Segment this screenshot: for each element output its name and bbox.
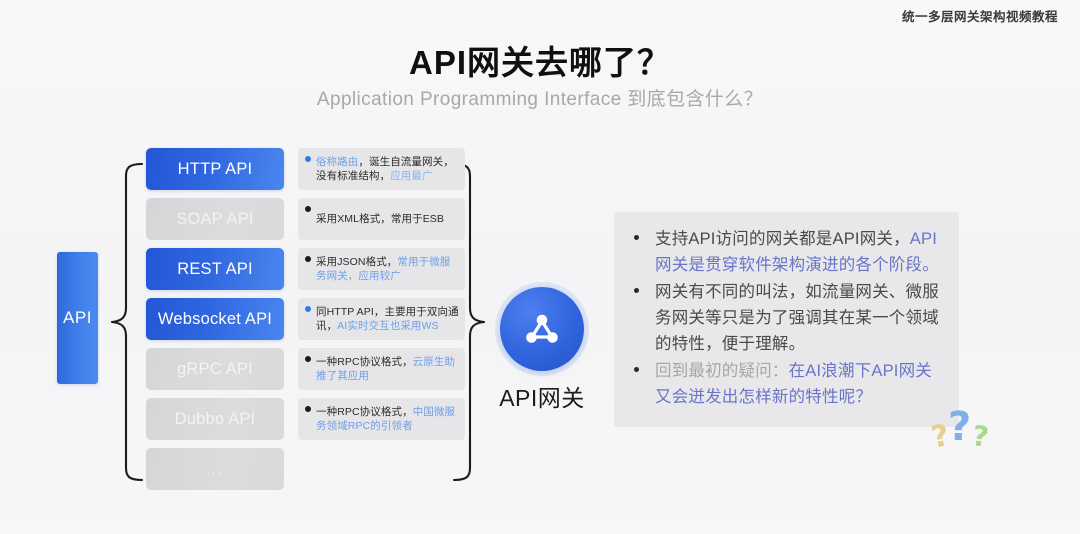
- api-type-tile[interactable]: REST API: [146, 248, 284, 290]
- api-type-label: HTTP API: [178, 160, 253, 179]
- description-segment: 俗称路由: [316, 156, 358, 168]
- left-brace-icon: [100, 160, 144, 484]
- api-type-description-text: 俗称路由，诞生自流量网关，没有标准结构，应用最广: [316, 155, 459, 183]
- description-segment: 应用最广: [390, 170, 432, 182]
- api-root-label: API: [63, 308, 92, 328]
- course-tag: 统一多层网关架构视频教程: [902, 6, 1058, 25]
- api-type-tile[interactable]: HTTP API: [146, 148, 284, 190]
- api-type-list: HTTP API俗称路由，诞生自流量网关，没有标准结构，应用最广SOAP API…: [146, 148, 465, 498]
- note-segment: 支持API访问的网关都是API网关，: [655, 230, 910, 248]
- api-type-row: gRPC API一种RPC协议格式，云原生助推了其应用: [146, 348, 465, 390]
- description-segment: 采用XML格式，常用于ESB: [316, 213, 444, 225]
- api-type-row: SOAP API采用XML格式，常用于ESB: [146, 198, 465, 240]
- api-type-tile[interactable]: gRPC API: [146, 348, 284, 390]
- note-text: 回到最初的疑问：在AI浪潮下API网关又会迸发出怎样新的特性呢？: [655, 358, 947, 410]
- bullet-icon: [634, 367, 639, 372]
- notes-panel: 支持API访问的网关都是API网关，API网关是贯穿软件架构演进的各个阶段。网关…: [614, 212, 959, 427]
- api-type-row: ...: [146, 448, 465, 490]
- api-type-description-text: 一种RPC协议格式，云原生助推了其应用: [316, 355, 459, 383]
- description-segment: 采用JSON格式，: [316, 256, 397, 268]
- description-segment: 一种RPC协议格式，: [316, 406, 413, 418]
- api-type-description-text: 同HTTP API，主要用于双向通讯，AI实时交互也采用WS: [316, 305, 459, 333]
- note-item: 回到最初的疑问：在AI浪潮下API网关又会迸发出怎样新的特性呢？: [628, 358, 947, 410]
- api-gateway-label: API网关: [468, 379, 616, 413]
- api-type-label: Websocket API: [158, 310, 272, 329]
- api-type-tile[interactable]: SOAP API: [146, 198, 284, 240]
- api-type-row: Websocket API同HTTP API，主要用于双向通讯，AI实时交互也采…: [146, 298, 465, 340]
- page-subtitle: Application Programming Interface 到底包含什么…: [0, 84, 1080, 111]
- svg-text:?: ?: [948, 404, 971, 450]
- api-type-row: REST API采用JSON格式，常用于微服务网关，应用较广: [146, 248, 465, 290]
- bullet-icon: [305, 256, 311, 262]
- network-node-icon: [500, 287, 584, 371]
- description-segment: AI实时交互也采用WS: [337, 320, 438, 332]
- api-type-label: Dubbo API: [175, 410, 256, 429]
- bullet-icon: [634, 288, 639, 293]
- api-type-label: REST API: [177, 260, 253, 279]
- api-type-description-text: 一种RPC协议格式，中国微服务领域RPC的引领者: [316, 405, 459, 433]
- api-type-row: HTTP API俗称路由，诞生自流量网关，没有标准结构，应用最广: [146, 148, 465, 190]
- page-title: API网关去哪了？: [0, 36, 1080, 84]
- api-type-description: 一种RPC协议格式，中国微服务领域RPC的引领者: [298, 398, 465, 440]
- api-root-node: API: [57, 252, 98, 384]
- api-type-description: 采用XML格式，常用于ESB: [298, 198, 465, 240]
- api-type-description: 采用JSON格式，常用于微服务网关，应用较广: [298, 248, 465, 290]
- api-type-tile[interactable]: ...: [146, 448, 284, 490]
- bullet-icon: [305, 306, 311, 312]
- note-segment: 网关有不同的叫法，如流量网关、微服务网关等只是为了强调其在某一个领域的特性，便于…: [655, 283, 939, 353]
- bullet-icon: [305, 406, 311, 412]
- note-text: 支持API访问的网关都是API网关，API网关是贯穿软件架构演进的各个阶段。: [655, 226, 947, 278]
- api-type-label: SOAP API: [176, 210, 253, 229]
- api-type-label: ...: [206, 461, 224, 477]
- note-segment: 回到最初的疑问：: [655, 362, 789, 380]
- note-item: 支持API访问的网关都是API网关，API网关是贯穿软件架构演进的各个阶段。: [628, 226, 947, 278]
- api-type-description: 一种RPC协议格式，云原生助推了其应用: [298, 348, 465, 390]
- api-type-label: gRPC API: [177, 360, 253, 379]
- bullet-icon: [634, 235, 639, 240]
- note-item: 网关有不同的叫法，如流量网关、微服务网关等只是为了强调其在某一个领域的特性，便于…: [628, 279, 947, 357]
- slide-canvas: 统一多层网关架构视频教程 API网关去哪了？ Application Progr…: [0, 0, 1080, 534]
- description-segment: 一种RPC协议格式，: [316, 356, 413, 368]
- api-type-description: [298, 448, 465, 490]
- api-type-description: 俗称路由，诞生自流量网关，没有标准结构，应用最广: [298, 148, 465, 190]
- svg-text:?: ?: [970, 419, 991, 452]
- api-type-description-text: 采用JSON格式，常用于微服务网关，应用较广: [316, 255, 459, 283]
- api-type-description-text: 采用XML格式，常用于ESB: [316, 212, 444, 226]
- api-gateway-node: API网关: [500, 287, 584, 371]
- question-marks-emoji: ? ? ?: [930, 398, 994, 452]
- bullet-icon: [305, 356, 311, 362]
- api-type-description: 同HTTP API，主要用于双向通讯，AI实时交互也采用WS: [298, 298, 465, 340]
- note-text: 网关有不同的叫法，如流量网关、微服务网关等只是为了强调其在某一个领域的特性，便于…: [655, 279, 947, 357]
- api-type-tile[interactable]: Dubbo API: [146, 398, 284, 440]
- api-type-row: Dubbo API一种RPC协议格式，中国微服务领域RPC的引领者: [146, 398, 465, 440]
- bullet-icon: [305, 156, 311, 162]
- api-type-tile[interactable]: Websocket API: [146, 298, 284, 340]
- bullet-icon: [305, 206, 311, 212]
